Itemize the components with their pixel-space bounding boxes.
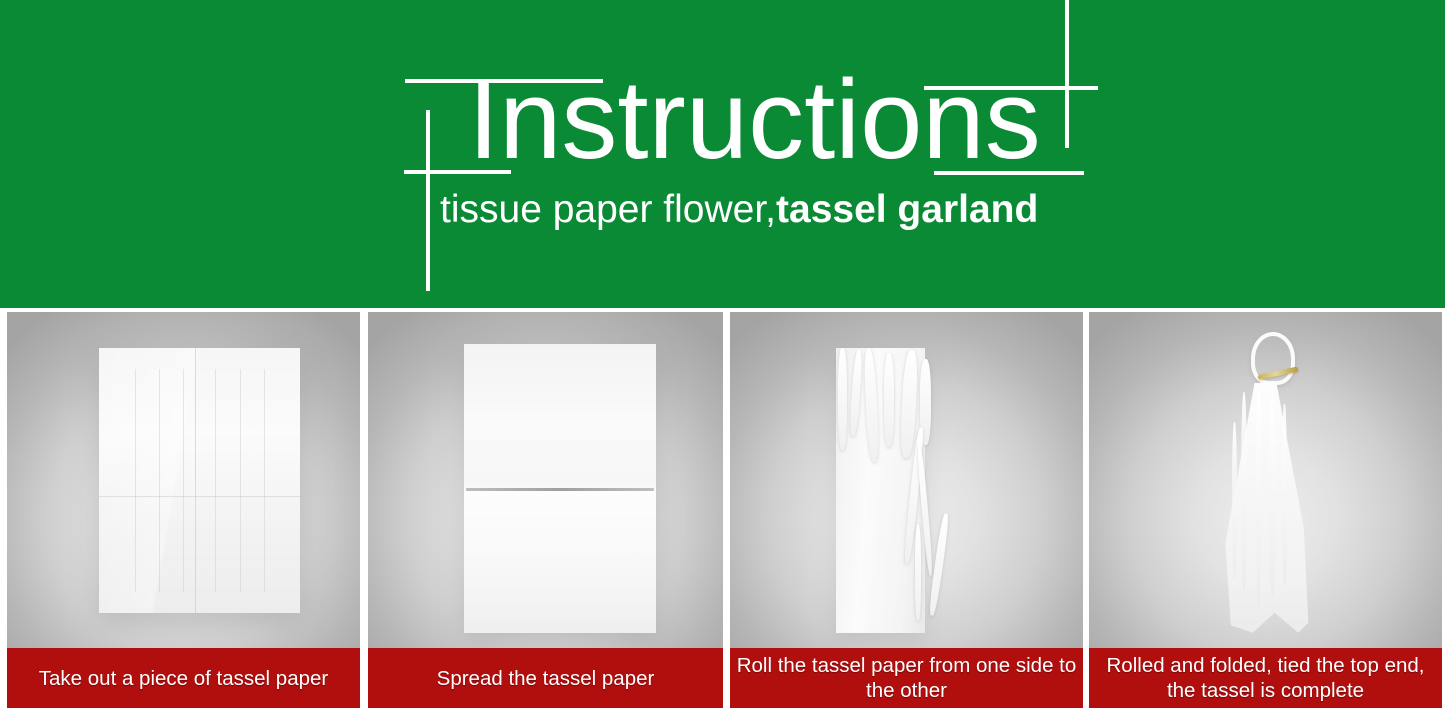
finished-tassel-illustration (1205, 332, 1325, 633)
page-title: Instructions (468, 64, 1041, 176)
page-subtitle: tissue paper flower,tassel garland (440, 190, 1038, 229)
step-panel-strip: Take out a piece of tassel paper Spread … (0, 308, 1445, 708)
tassel-fold (1256, 389, 1261, 606)
rolled-tissue-illustration (836, 348, 963, 633)
step-caption-text-2: Spread the tassel paper (437, 666, 655, 691)
decor-line-vertical-right (1065, 0, 1069, 148)
fringe-strand (884, 353, 894, 447)
spread-tissue-illustration (464, 344, 656, 633)
page-subtitle-bold: tassel garland (776, 188, 1038, 231)
paper-crease-lines (99, 348, 300, 613)
step-caption-text-4: Rolled and folded, tied the top end, the… (1095, 653, 1436, 703)
instructions-banner: Instructions tissue paper flower,tassel … (0, 0, 1445, 308)
step-panel-2: Spread the tassel paper (368, 312, 723, 708)
step-caption-text-1: Take out a piece of tassel paper (39, 666, 328, 691)
fringe-strand (838, 348, 847, 451)
step-caption-1: Take out a piece of tassel paper (7, 648, 360, 708)
tassel-fold (1269, 392, 1276, 597)
paper-fold-line (466, 488, 654, 491)
step-panel-1: Take out a piece of tassel paper (7, 312, 360, 708)
step-caption-3: Roll the tassel paper from one side to t… (730, 648, 1083, 708)
step-panel-3: Roll the tassel paper from one side to t… (730, 312, 1083, 708)
tassel-fold (1282, 404, 1287, 585)
tissue-sheet-illustration (99, 348, 300, 613)
page-subtitle-light: tissue paper flower, (440, 188, 776, 231)
decor-line-vertical-left (426, 110, 430, 291)
tassel-fold (1232, 422, 1237, 578)
step-caption-4: Rolled and folded, tied the top end, the… (1089, 648, 1442, 708)
step-caption-text-3: Roll the tassel paper from one side to t… (736, 653, 1077, 703)
step-caption-2: Spread the tassel paper (368, 648, 723, 708)
fringe-strand (915, 524, 921, 621)
step-panel-4: Rolled and folded, tied the top end, the… (1089, 312, 1442, 708)
